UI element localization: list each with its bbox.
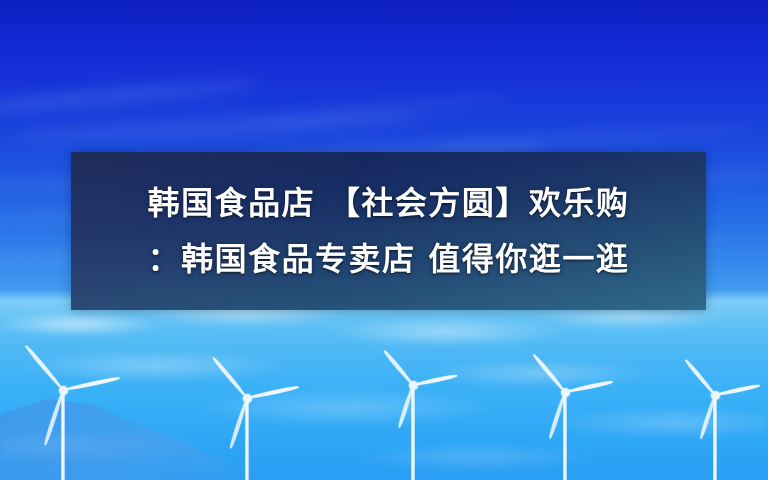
title-caption-panel: 韩国食品店 【社会方圆】欢乐购 ：韩国食品专卖店 值得你逛一逛 <box>71 152 706 310</box>
turbine-5 <box>712 395 718 480</box>
turbine-tower <box>411 385 415 480</box>
turbine-hub <box>409 381 418 390</box>
turbine-1 <box>60 390 66 480</box>
title-line-2: ：韩国食品专卖店 值得你逛一逛 <box>148 233 630 285</box>
turbine-tower <box>245 398 249 480</box>
turbine-hub <box>243 394 252 403</box>
title-line-1: 韩国食品店 【社会方圆】欢乐购 <box>148 177 630 229</box>
turbine-2 <box>244 398 250 480</box>
turbine-4 <box>562 392 568 480</box>
turbine-hub <box>561 388 570 397</box>
banner-image: 韩国食品店 【社会方圆】欢乐购 ：韩国食品专卖店 值得你逛一逛 <box>0 0 768 480</box>
turbine-hub <box>59 386 68 395</box>
turbine-tower <box>563 392 567 480</box>
turbine-tower <box>61 390 65 480</box>
turbine-3 <box>410 385 416 480</box>
turbine-tower <box>713 395 717 480</box>
turbine-hub <box>711 391 720 400</box>
